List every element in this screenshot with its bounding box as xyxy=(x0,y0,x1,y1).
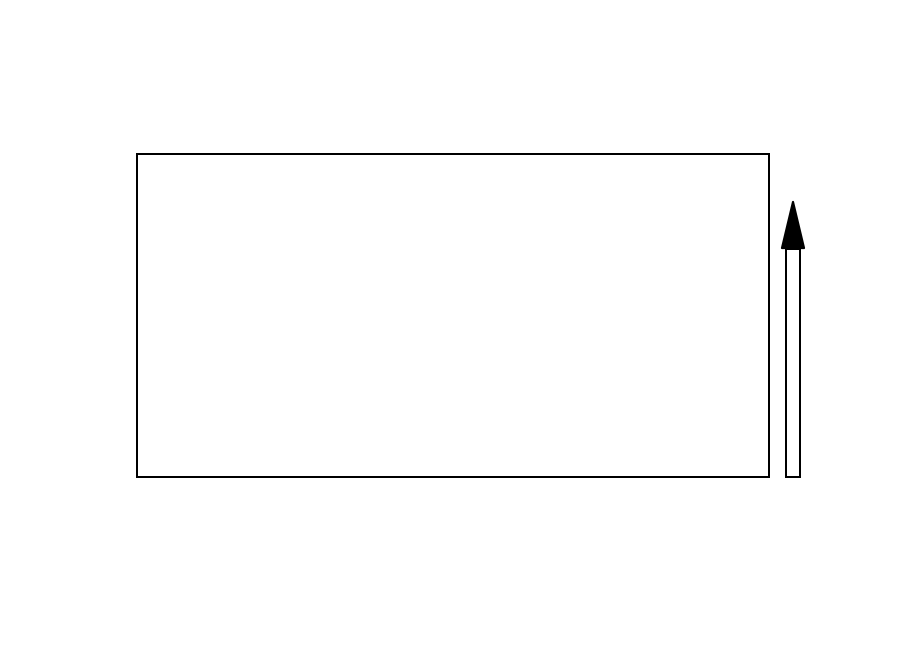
plot-area xyxy=(136,153,770,478)
density-heatmap xyxy=(138,155,768,476)
figure-canvas xyxy=(0,0,904,654)
colorbar xyxy=(785,248,801,478)
colorbar-arrow-cap xyxy=(779,200,807,250)
